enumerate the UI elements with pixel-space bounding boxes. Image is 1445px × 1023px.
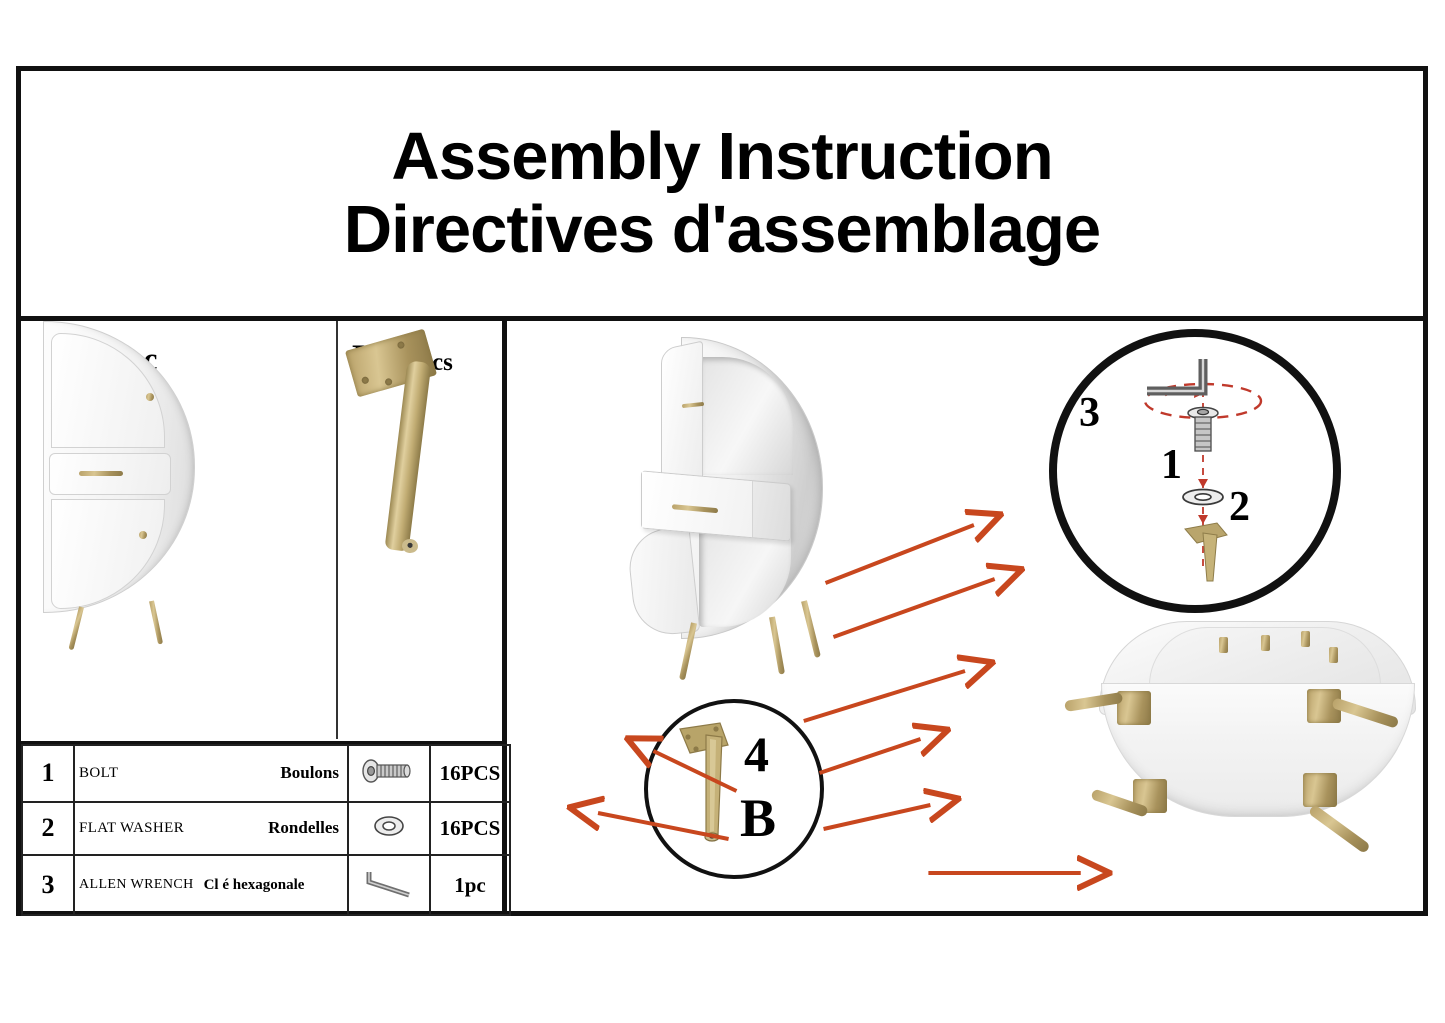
top-door-knob xyxy=(146,393,154,401)
row-qty: 16PCS xyxy=(430,802,510,855)
page-title-french: Directives d'assemblage xyxy=(344,196,1100,264)
panel-part-b: B = 4pcs xyxy=(338,321,502,739)
callout-step-2-number: 2 xyxy=(1229,483,1250,531)
table-row: 2 FLAT WASHER Rondelles xyxy=(22,802,510,855)
title-band: Assembly Instruction Directives d'assemb… xyxy=(21,71,1423,321)
leg-mounting-plate xyxy=(1303,773,1337,807)
cabinet-leg xyxy=(801,600,821,658)
row-number: 1 xyxy=(22,745,74,802)
table-row: 3 ALLEN WRENCH Cl é hexagonale xyxy=(22,855,510,915)
leg-quantity-callout: 4 B xyxy=(644,699,824,879)
arrow-from-leg-callout-3 xyxy=(820,739,921,773)
row-name-en: BOLT xyxy=(79,765,118,782)
leg-target-icon xyxy=(1185,523,1227,581)
leg-callout-quantity: 4 xyxy=(744,725,769,783)
instruction-sheet: Assembly Instruction Directives d'assemb… xyxy=(0,0,1445,1023)
arrow-to-callout-3 xyxy=(804,671,965,721)
table-row: 1 BOLT Boulons xyxy=(22,745,510,802)
screw-stub xyxy=(1261,635,1270,651)
bolt-icon xyxy=(358,757,420,785)
row-icon-cell xyxy=(348,745,430,802)
row-name-fr: Boulons xyxy=(280,763,339,783)
parts-column: A = 1pc xyxy=(21,321,507,916)
panel-part-a: A = 1pc xyxy=(21,321,338,739)
cabinet-leg xyxy=(68,606,83,650)
exploded-cabinet-image xyxy=(619,331,939,671)
instruction-frame: Assembly Instruction Directives d'assemb… xyxy=(16,66,1428,916)
illustration-column: 3 1 2 xyxy=(507,321,1423,916)
row-name-fr: Rondelles xyxy=(268,818,339,838)
screw-stub xyxy=(1329,647,1338,663)
cabinet-leg xyxy=(769,616,785,674)
cabinet-upper-cavity xyxy=(697,357,793,475)
page-title-english: Assembly Instruction xyxy=(391,123,1052,191)
bottom-door-knob xyxy=(139,531,147,539)
bolt-icon xyxy=(1188,408,1218,452)
open-bottom-door xyxy=(626,526,701,638)
row-qty: 16PCS xyxy=(430,745,510,802)
gold-leg-icon xyxy=(680,723,728,841)
row-name-en: FLAT WASHER xyxy=(79,820,184,837)
row-icon-cell xyxy=(348,802,430,855)
row-name: FLAT WASHER Rondelles xyxy=(74,802,348,855)
leg-foot xyxy=(401,538,419,554)
body-area: A = 1pc xyxy=(21,321,1423,916)
callout-step-1-number: 1 xyxy=(1161,441,1182,489)
leg-shaft xyxy=(385,360,432,552)
allen-wrench-icon xyxy=(362,868,416,898)
screw-stub xyxy=(1301,631,1310,647)
washer-icon xyxy=(369,813,409,839)
row-number: 3 xyxy=(22,855,74,915)
washer-icon xyxy=(1183,490,1223,505)
leg-callout-letter: B xyxy=(740,787,776,849)
row-number: 2 xyxy=(22,802,74,855)
open-top-door xyxy=(661,341,703,492)
cabinet-a-image xyxy=(21,321,221,641)
row-name-fr: Cl é hexagonale xyxy=(204,877,305,894)
cabinet-leg xyxy=(149,600,163,644)
drawer-handle xyxy=(79,471,123,476)
cabinet-bottom-door xyxy=(51,499,165,609)
drawer-face xyxy=(642,472,753,538)
callout-step-3-number: 3 xyxy=(1079,389,1100,437)
row-name-en: ALLEN WRENCH xyxy=(79,877,194,893)
arrow-from-leg-callout-4 xyxy=(824,805,931,829)
row-icon-cell xyxy=(348,855,430,915)
row-qty: 1pc xyxy=(430,855,510,915)
parts-table: 1 BOLT Boulons xyxy=(21,741,502,916)
flipped-cabinet-image xyxy=(1039,621,1445,861)
row-name: BOLT Boulons xyxy=(74,745,348,802)
attached-leg xyxy=(1308,804,1371,854)
fastener-order-callout: 3 1 2 xyxy=(1049,329,1341,613)
screw-stub xyxy=(1219,637,1228,653)
cabinet-lower-cavity xyxy=(699,527,791,627)
row-name: ALLEN WRENCH Cl é hexagonale xyxy=(74,855,348,915)
parts-panels: A = 1pc xyxy=(21,321,502,739)
